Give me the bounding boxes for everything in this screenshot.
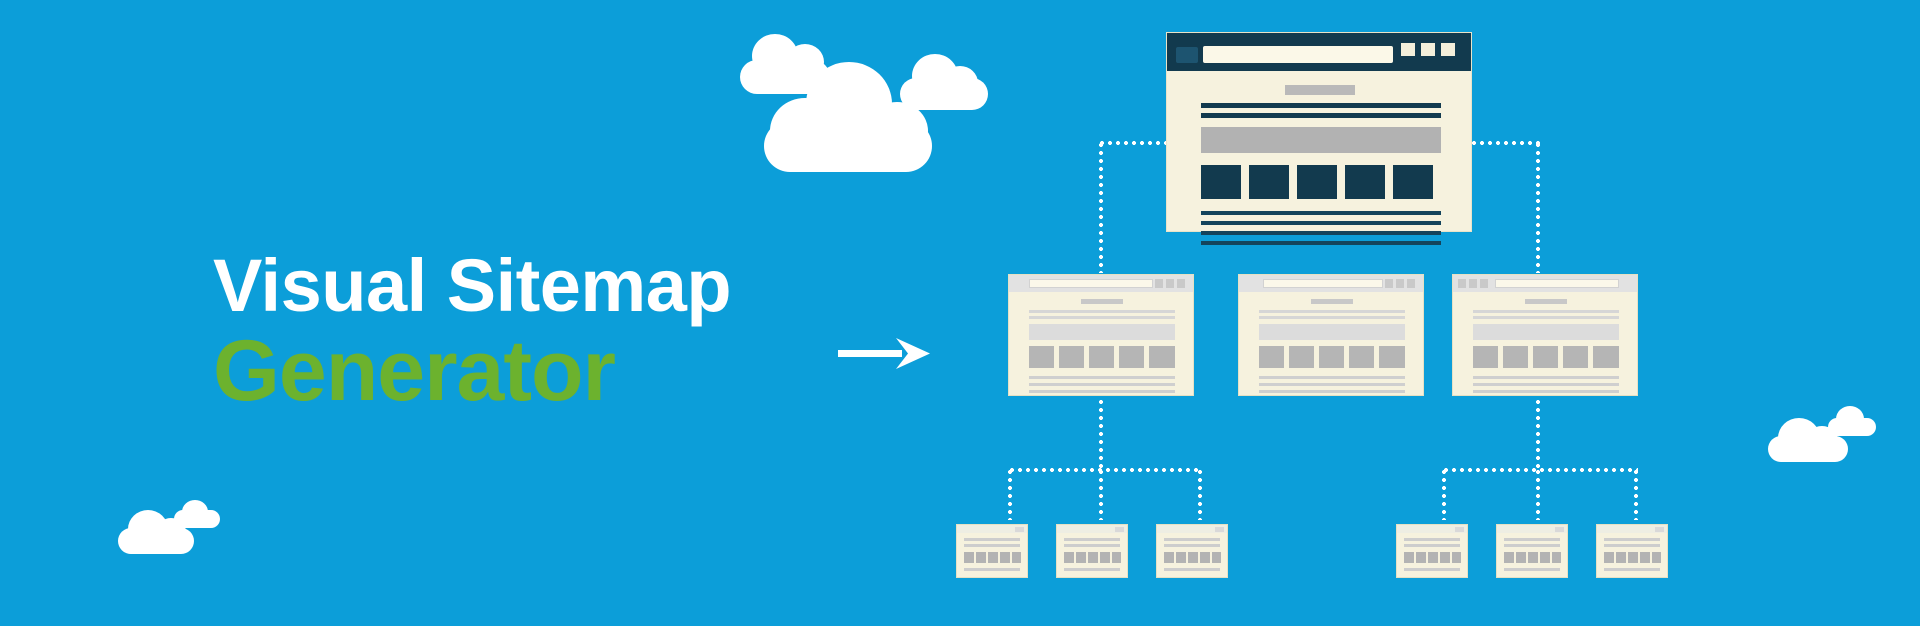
- page-tag-chip: [1285, 85, 1355, 95]
- page-tag-chip: [1311, 299, 1353, 304]
- maximize-button[interactable]: [1166, 279, 1174, 288]
- page-thumbnail: [976, 552, 986, 563]
- page-text-line: [964, 544, 1020, 547]
- cloud-icon: [764, 120, 932, 172]
- page-rule: [1201, 103, 1441, 108]
- leaf-window-titlebar: [1397, 525, 1467, 533]
- page-text-line: [1029, 376, 1175, 379]
- page-thumbnail: [1563, 346, 1588, 368]
- page-text-line: [1201, 241, 1441, 245]
- connector-branch-left-stem: [1099, 398, 1103, 470]
- page-thumbnail: [1319, 346, 1344, 368]
- window-controls[interactable]: [1458, 279, 1491, 288]
- leaf-page-tile-3[interactable]: [1156, 524, 1228, 578]
- page-thumbnail: [1200, 552, 1210, 563]
- page-thumbnail: [1416, 552, 1426, 563]
- connector-leaf-right-1: [1442, 468, 1446, 520]
- page-text-line: [1604, 538, 1660, 541]
- page-hero-band: [1473, 324, 1619, 340]
- close-button[interactable]: [1407, 279, 1415, 288]
- leaf-window-titlebar: [1497, 525, 1567, 533]
- page-text-line: [1164, 538, 1220, 541]
- page-text-line: [1201, 221, 1441, 225]
- page-tag-chip: [1081, 299, 1123, 304]
- page-thumbnail: [1628, 552, 1638, 563]
- page-rule: [1473, 310, 1619, 313]
- page-text-line: [964, 538, 1020, 541]
- page-thumbnail: [1012, 552, 1021, 563]
- connector-leaf-left-2: [1099, 468, 1103, 520]
- page-thumbnail: [1393, 165, 1433, 199]
- page-text-line: [1201, 231, 1441, 235]
- connector-root-right-vertical: [1536, 141, 1540, 273]
- cloud-icon: [118, 528, 194, 554]
- page-thumbnail: [1000, 552, 1010, 563]
- page-text-line: [1504, 544, 1560, 547]
- close-button[interactable]: [1441, 43, 1455, 56]
- connector-root-left-vertical: [1099, 141, 1103, 273]
- leaf-window-titlebar: [1597, 525, 1667, 533]
- page-text-line: [1604, 544, 1660, 547]
- page-thumbnail: [1640, 552, 1650, 563]
- page-rule: [1029, 316, 1175, 319]
- window-controls[interactable]: [1015, 527, 1024, 532]
- page-thumbnail: [1029, 346, 1054, 368]
- page-thumbnail: [1404, 552, 1414, 563]
- page-thumbnail: [1119, 346, 1144, 368]
- page-thumbnail: [1289, 346, 1314, 368]
- minimize-button[interactable]: [1469, 279, 1477, 288]
- page-thumbnail: [1201, 165, 1241, 199]
- page-thumbnail: [1616, 552, 1626, 563]
- page-thumbnail: [1516, 552, 1526, 563]
- page-text-line: [1473, 383, 1619, 386]
- headline-block: Visual Sitemap Generator: [213, 248, 813, 416]
- page-thumbnail: [1112, 552, 1121, 563]
- page-text-line: [1064, 568, 1120, 571]
- page-text-line: [1201, 211, 1441, 215]
- child-window-body: [1009, 292, 1193, 395]
- leaf-page-tile-4[interactable]: [1396, 524, 1468, 578]
- page-text-line: [1029, 383, 1175, 386]
- headline-line-2: Generator: [213, 327, 813, 416]
- address-bar[interactable]: [1203, 46, 1393, 63]
- page-text-line: [1604, 568, 1660, 571]
- banner-canvas: Visual Sitemap Generator: [0, 0, 1920, 626]
- window-controls[interactable]: [1115, 527, 1124, 532]
- page-thumbnail: [1593, 346, 1619, 368]
- child-window-titlebar: [1453, 275, 1637, 292]
- page-text-line: [1404, 568, 1460, 571]
- window-controls[interactable]: [1385, 279, 1418, 288]
- minimize-button[interactable]: [1155, 279, 1163, 288]
- page-hero-band: [1259, 324, 1405, 340]
- connector-branch-right-stem: [1536, 398, 1540, 470]
- page-thumbnail: [988, 552, 998, 563]
- leaf-window-titlebar: [957, 525, 1027, 533]
- page-hero-band: [1201, 127, 1441, 153]
- page-text-line: [1259, 390, 1405, 393]
- page-thumbnail: [1100, 552, 1110, 563]
- page-thumbnail: [1297, 165, 1337, 199]
- page-thumbnail: [1652, 552, 1661, 563]
- cloud-pair-bottom-left: [112, 498, 232, 560]
- page-text-line: [964, 568, 1020, 571]
- page-thumbnail: [1428, 552, 1438, 563]
- cloud-icon: [1768, 436, 1848, 462]
- page-text-line: [1164, 568, 1220, 571]
- window-controls[interactable]: [1655, 527, 1664, 532]
- page-text-line: [1504, 538, 1560, 541]
- page-thumbnail: [1064, 552, 1074, 563]
- window-controls[interactable]: [1555, 527, 1564, 532]
- root-window-body: [1167, 71, 1471, 231]
- connector-leaf-right-3: [1634, 468, 1638, 520]
- page-thumbnail: [1076, 552, 1086, 563]
- page-thumbnail: [1604, 552, 1614, 563]
- page-text-line: [1504, 568, 1560, 571]
- connector-branch-right-bar: [1442, 468, 1638, 472]
- connector-branch-left-bar: [1008, 468, 1202, 472]
- page-text-line: [1404, 544, 1460, 547]
- headline-line-1: Visual Sitemap: [213, 248, 813, 325]
- page-text-line: [1473, 390, 1619, 393]
- cloud-cluster-top: [730, 24, 1030, 204]
- address-bar[interactable]: [1029, 279, 1153, 288]
- close-button[interactable]: [1177, 279, 1185, 288]
- page-thumbnail: [1188, 552, 1198, 563]
- page-thumbnail: [1176, 552, 1186, 563]
- child-window-body: [1453, 292, 1637, 395]
- page-rule: [1201, 113, 1441, 118]
- cloud-icon: [900, 78, 988, 110]
- page-thumbnail: [1059, 346, 1084, 368]
- minimize-button[interactable]: [1401, 43, 1415, 56]
- address-bar[interactable]: [1263, 279, 1383, 288]
- leaf-page-tile-5[interactable]: [1496, 524, 1568, 578]
- leaf-page-tile-1[interactable]: [956, 524, 1028, 578]
- page-thumbnail: [1528, 552, 1538, 563]
- window-controls[interactable]: [1401, 43, 1463, 56]
- leaf-window-titlebar: [1157, 525, 1227, 533]
- page-hero-band: [1029, 324, 1175, 340]
- page-text-line: [1259, 376, 1405, 379]
- page-thumbnail: [1089, 346, 1114, 368]
- child-page-window-3[interactable]: [1452, 274, 1638, 396]
- page-rule: [1259, 316, 1405, 319]
- page-text-line: [1064, 538, 1120, 541]
- page-thumbnail: [1149, 346, 1175, 368]
- page-thumbnail: [1249, 165, 1289, 199]
- page-thumbnail: [1540, 552, 1550, 563]
- cloud-icon: [174, 510, 220, 528]
- cloud-icon: [1828, 418, 1876, 436]
- connector-leaf-right-2: [1536, 468, 1540, 520]
- page-thumbnail: [1212, 552, 1221, 563]
- cloud-pair-right: [1760, 404, 1890, 468]
- browser-logo-icon: [1176, 47, 1198, 63]
- child-window-titlebar: [1239, 275, 1423, 292]
- child-page-window-1[interactable]: [1008, 274, 1194, 396]
- page-text-line: [1164, 544, 1220, 547]
- leaf-page-tile-2[interactable]: [1056, 524, 1128, 578]
- maximize-button[interactable]: [1421, 43, 1435, 56]
- page-rule: [1259, 310, 1405, 313]
- page-rule: [1473, 316, 1619, 319]
- minimize-button[interactable]: [1385, 279, 1393, 288]
- page-text-line: [1259, 383, 1405, 386]
- connector-leaf-left-3: [1198, 468, 1202, 520]
- page-thumbnail: [1533, 346, 1558, 368]
- page-thumbnail: [1345, 165, 1385, 199]
- page-thumbnail: [1452, 552, 1461, 563]
- page-thumbnail: [1503, 346, 1528, 368]
- child-page-window-2[interactable]: [1238, 274, 1424, 396]
- connector-root-left-horizontal: [1098, 141, 1168, 145]
- child-window-titlebar: [1009, 275, 1193, 292]
- page-tag-chip: [1525, 299, 1567, 304]
- page-text-line: [1029, 390, 1175, 393]
- root-window-titlebar: [1167, 33, 1471, 71]
- right-arrow-icon: [838, 332, 934, 376]
- leaf-window-titlebar: [1057, 525, 1127, 533]
- root-page-window[interactable]: [1166, 32, 1472, 232]
- page-thumbnail: [1088, 552, 1098, 563]
- connector-leaf-left-1: [1008, 468, 1012, 520]
- page-thumbnail: [1379, 346, 1405, 368]
- window-controls[interactable]: [1215, 527, 1224, 532]
- page-thumbnail: [1473, 346, 1498, 368]
- window-controls[interactable]: [1455, 527, 1464, 532]
- page-thumbnail: [964, 552, 974, 563]
- page-thumbnail: [1552, 552, 1561, 563]
- close-button[interactable]: [1458, 279, 1466, 288]
- address-bar[interactable]: [1495, 279, 1619, 288]
- page-text-line: [1064, 544, 1120, 547]
- maximize-button[interactable]: [1480, 279, 1488, 288]
- page-text-line: [1404, 538, 1460, 541]
- window-controls[interactable]: [1155, 279, 1188, 288]
- child-window-body: [1239, 292, 1423, 395]
- page-text-line: [1473, 376, 1619, 379]
- page-thumbnail: [1440, 552, 1450, 563]
- page-thumbnail: [1349, 346, 1374, 368]
- page-thumbnail: [1164, 552, 1174, 563]
- connector-root-right-horizontal: [1470, 141, 1540, 145]
- page-thumbnail: [1504, 552, 1514, 563]
- page-thumbnail: [1259, 346, 1284, 368]
- leaf-page-tile-6[interactable]: [1596, 524, 1668, 578]
- page-rule: [1029, 310, 1175, 313]
- maximize-button[interactable]: [1396, 279, 1404, 288]
